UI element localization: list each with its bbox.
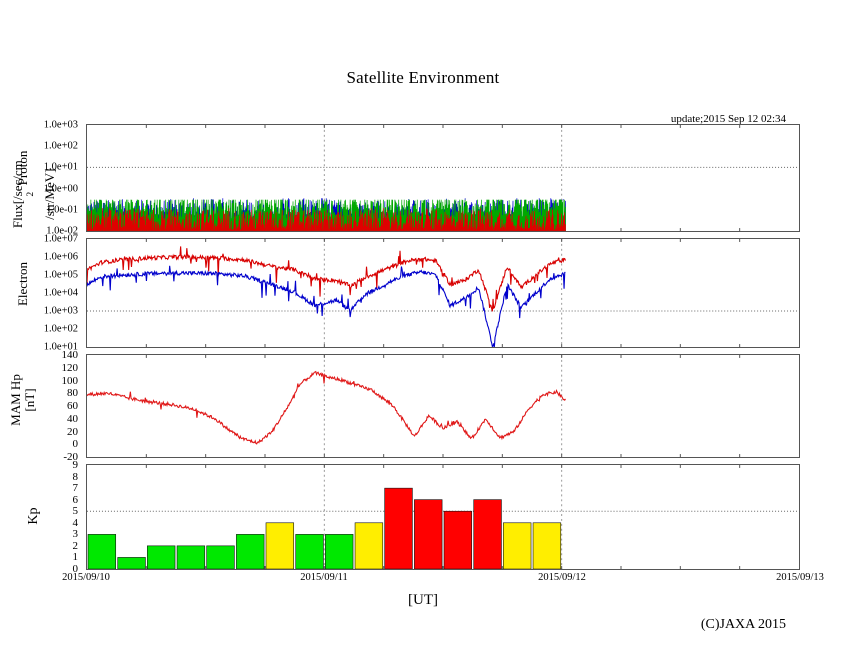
y-tick-label: 100: [0, 375, 82, 387]
y-tick-label: 4: [0, 517, 82, 529]
y-tick-label: 1: [0, 551, 82, 563]
y-tick-label: 0: [0, 438, 82, 450]
kp-bar: [147, 546, 175, 569]
kp-bar: [414, 500, 442, 569]
mam-hp-trace: [87, 372, 565, 444]
y-tick-label: 1.0e+03: [0, 120, 82, 131]
y-tick-label: 1.0e-01: [0, 204, 82, 215]
y-tick-label: 2: [0, 540, 82, 552]
y-tick-label: 3: [0, 528, 82, 540]
y-tick-label: 140: [0, 349, 82, 361]
kp-bar: [385, 488, 413, 569]
mam-hp-panel: [86, 354, 800, 458]
y-tick-label: 40: [0, 413, 82, 425]
x-tick-label: 2015/09/13: [776, 572, 824, 583]
kp-bar: [444, 511, 472, 569]
x-tick-label: 2015/09/12: [538, 572, 586, 583]
kp-bar: [325, 534, 353, 569]
y-tick-label: 6: [0, 494, 82, 506]
y-tick-label: 120: [0, 362, 82, 374]
x-tick-label: 2015/09/11: [300, 572, 347, 583]
electron-panel: [86, 238, 800, 348]
kp-bar: [118, 557, 146, 569]
copyright-notice: (C)JAXA 2015: [546, 617, 786, 633]
y-tick-label: 80: [0, 387, 82, 399]
y-tick-label: 60: [0, 400, 82, 412]
kp-bar: [266, 523, 294, 569]
y-tick-label: 20: [0, 426, 82, 438]
x-axis-title: [UT]: [0, 592, 846, 609]
x-tick-label: 2015/09/10: [62, 572, 110, 583]
y-tick-label: 1.0e+04: [0, 288, 82, 299]
y-tick-label: 1.0e+05: [0, 270, 82, 281]
kp-bar: [355, 523, 383, 569]
y-tick-label: 1.0e+00: [0, 183, 82, 194]
y-tick-label: 1.0e+03: [0, 306, 82, 317]
electron-trace-electron-high: [87, 246, 565, 311]
y-tick-label: 9: [0, 459, 82, 471]
y-tick-label: 5: [0, 505, 82, 517]
y-tick-label: 1.0e+06: [0, 252, 82, 263]
proton-panel: [86, 124, 800, 232]
y-tick-label: 7: [0, 482, 82, 494]
page-title: Satellite Environment: [0, 68, 846, 88]
chart-page: Satellite Environment update;2015 Sep 12…: [0, 0, 846, 655]
kp-bar: [177, 546, 205, 569]
kp-bar: [503, 523, 531, 569]
kp-panel: [86, 464, 800, 570]
kp-bar: [296, 534, 324, 569]
y-tick-label: 8: [0, 471, 82, 483]
kp-bar: [474, 500, 502, 569]
kp-bar: [236, 534, 264, 569]
y-tick-label: 1.0e+02: [0, 141, 82, 152]
y-tick-label: 1.0e+07: [0, 234, 82, 245]
kp-bar: [207, 546, 235, 569]
y-tick-label: 1.0e+01: [0, 162, 82, 173]
y-tick-label: 1.0e+02: [0, 324, 82, 335]
kp-bar: [533, 523, 561, 569]
kp-bar: [88, 534, 116, 569]
